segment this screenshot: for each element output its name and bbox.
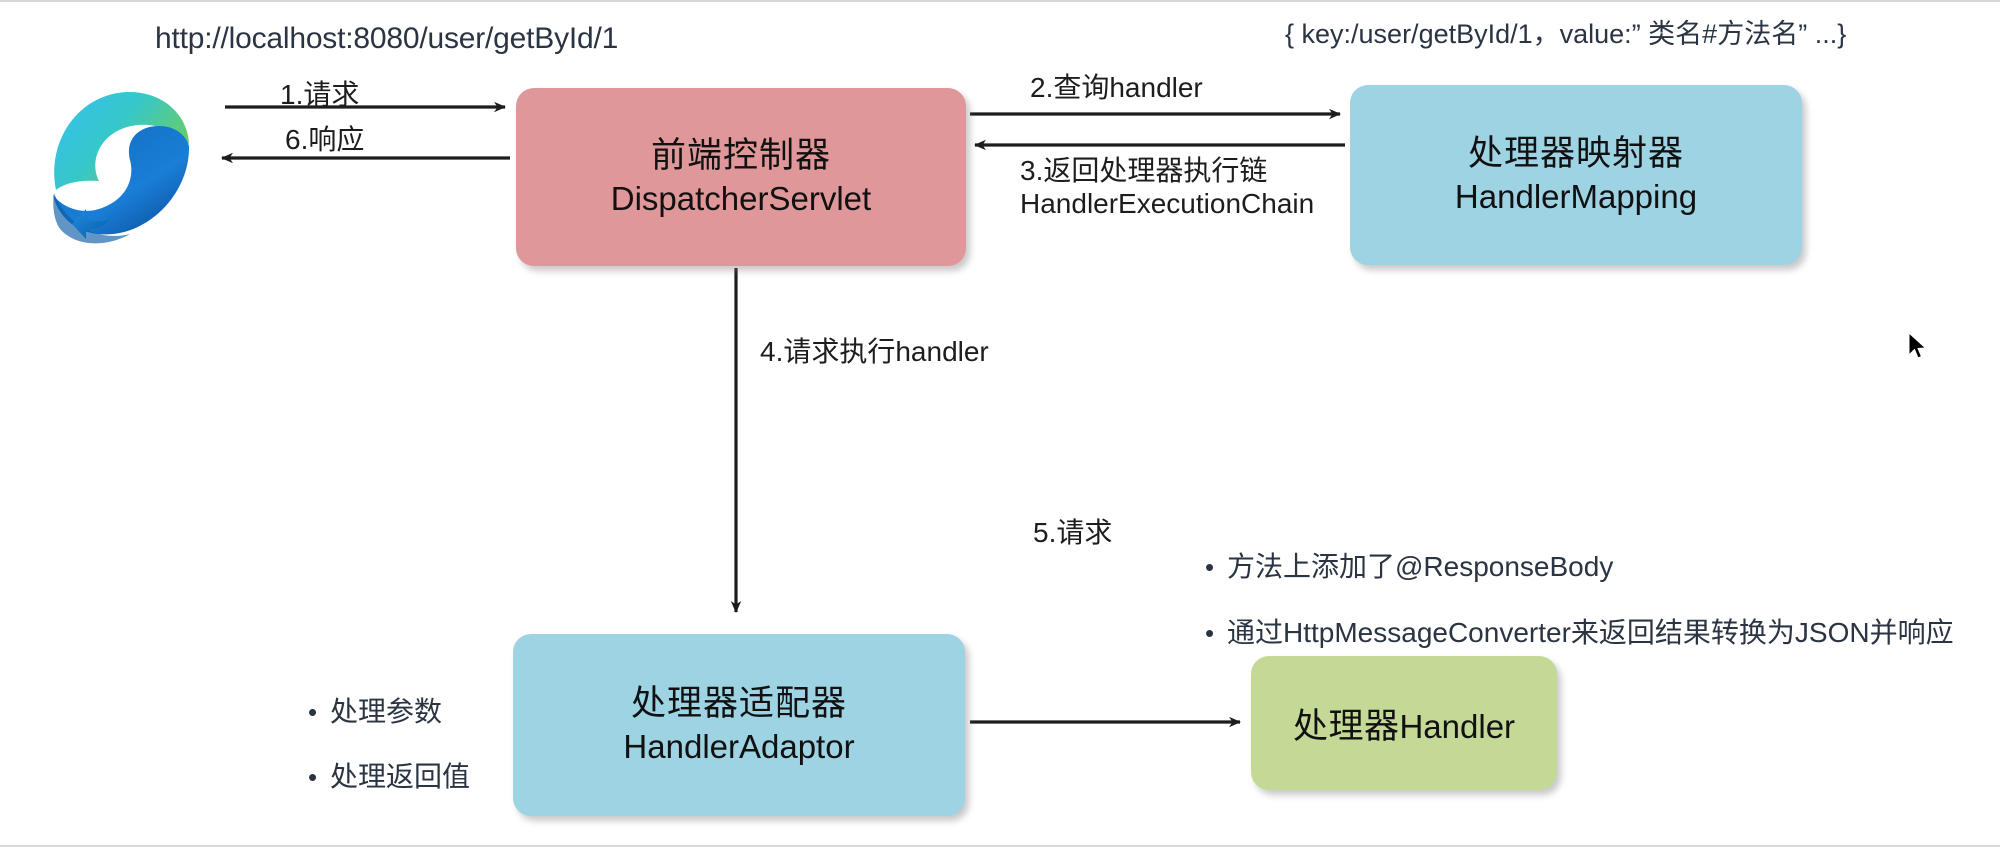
list-item: • 处理返回值 bbox=[308, 755, 470, 795]
list-item-label: 方法上添加了@ResponseBody bbox=[1227, 545, 1613, 585]
arrow-label-step3: 3.返回处理器执行链 bbox=[1020, 149, 1267, 189]
arrow-label-step6: 6.响应 bbox=[285, 118, 364, 158]
node-handler-title: 处理器 bbox=[1293, 707, 1400, 746]
bullet-dot-icon: • bbox=[1205, 620, 1227, 646]
bullet-dot-icon: • bbox=[308, 764, 330, 790]
arrow-label-step3-sub: HandlerExecutionChain bbox=[1020, 188, 1314, 220]
handler-notes-list: • 方法上添加了@ResponseBody • 通过HttpMessageCon… bbox=[1205, 545, 1954, 677]
diagram-canvas: http://localhost:8080/user/getById/1 { k… bbox=[0, 0, 2000, 847]
mouse-cursor-icon bbox=[1908, 332, 1930, 362]
node-handler-adaptor[interactable]: 处理器适配器 HandlerAdaptor bbox=[513, 634, 965, 816]
node-handler-subtitle: Handler bbox=[1399, 708, 1515, 745]
node-dispatcher-servlet[interactable]: 前端控制器 DispatcherServlet bbox=[516, 88, 966, 266]
arrow-label-step4: 4.请求执行handler bbox=[760, 330, 989, 370]
list-item: • 通过HttpMessageConverter来返回结果转换为JSON并响应 bbox=[1205, 611, 1954, 651]
list-item-label: 处理参数 bbox=[330, 690, 442, 730]
node-adaptor-title: 处理器适配器 bbox=[631, 684, 847, 724]
list-item: • 处理参数 bbox=[308, 690, 470, 730]
list-item-label: 处理返回值 bbox=[330, 755, 470, 795]
node-handler-label: 处理器Handler bbox=[1293, 698, 1515, 749]
node-handler-mapping[interactable]: 处理器映射器 HandlerMapping bbox=[1350, 85, 1802, 265]
node-dispatcher-subtitle: DispatcherServlet bbox=[611, 179, 871, 219]
node-dispatcher-title: 前端控制器 bbox=[651, 136, 831, 176]
node-mapping-subtitle: HandlerMapping bbox=[1455, 177, 1697, 217]
list-item: • 方法上添加了@ResponseBody bbox=[1205, 545, 1954, 585]
adaptor-notes-list: • 处理参数 • 处理返回值 bbox=[308, 690, 470, 820]
bullet-dot-icon: • bbox=[1205, 554, 1227, 580]
arrow-label-step2: 2.查询handler bbox=[1030, 66, 1203, 106]
node-mapping-title: 处理器映射器 bbox=[1468, 134, 1684, 174]
list-item-label: 通过HttpMessageConverter来返回结果转换为JSON并响应 bbox=[1227, 611, 1954, 651]
node-adaptor-subtitle: HandlerAdaptor bbox=[623, 727, 854, 767]
arrow-label-step1: 1.请求 bbox=[280, 73, 359, 113]
arrow-label-step5: 5.请求 bbox=[1033, 511, 1112, 551]
bullet-dot-icon: • bbox=[308, 699, 330, 725]
